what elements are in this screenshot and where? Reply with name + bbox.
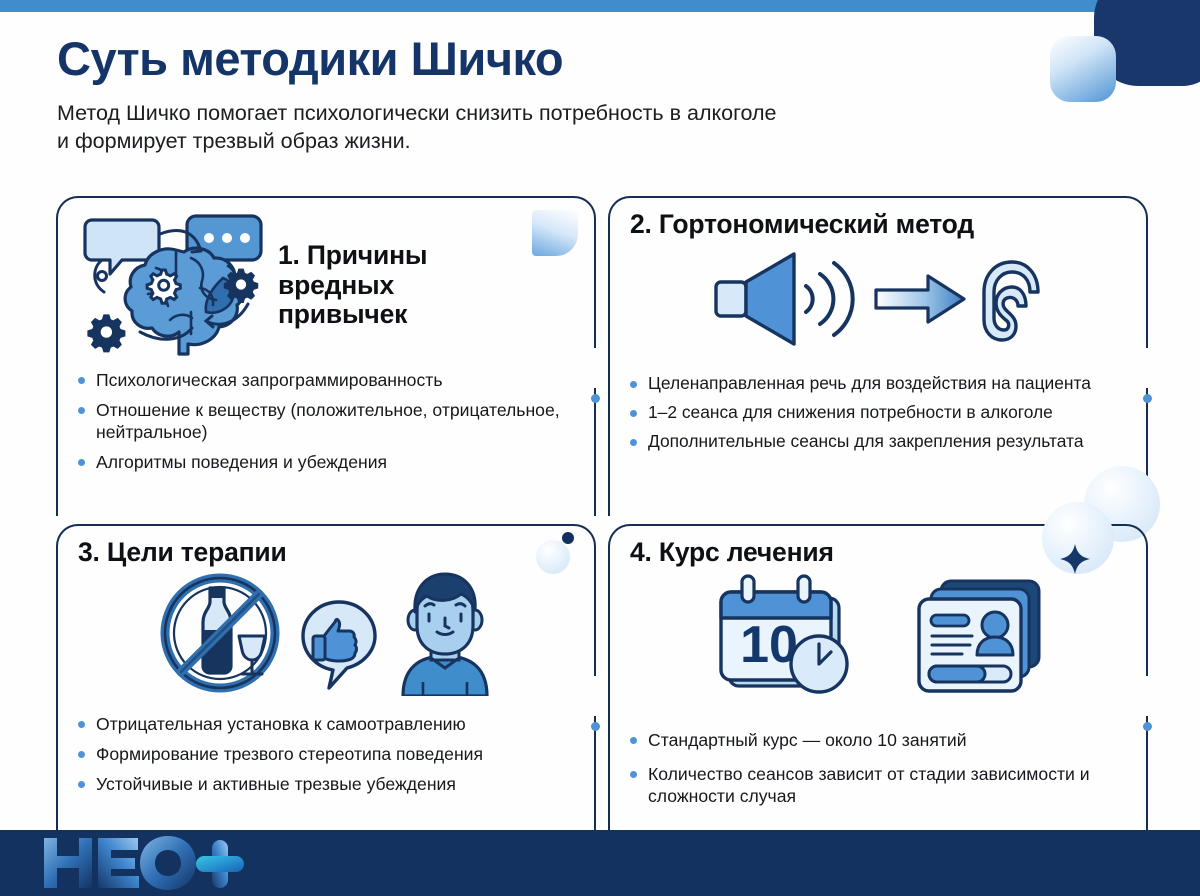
card-title: 1. Причины вредных привычек bbox=[278, 241, 508, 330]
card-bullet-list: Отрицательная установка к самоотравлению… bbox=[78, 713, 574, 795]
cards-grid: 1. Причины вредных привычек Психологичес… bbox=[56, 196, 1148, 836]
footer bbox=[0, 830, 1200, 896]
corner-gradient-square bbox=[1050, 36, 1116, 102]
card-hortonomic-method[interactable]: 2. Гортономический метод bbox=[608, 196, 1148, 516]
card-treatment-course[interactable]: 4. Курс лечения 10 bbox=[608, 524, 1148, 836]
list-item: Отрицательная установка к самоотравлению bbox=[78, 713, 574, 735]
list-item: Стандартный курс — около 10 занятий bbox=[630, 729, 1126, 751]
card-bullet-list: Целенаправленная речь для воздействия на… bbox=[630, 373, 1126, 453]
no-alcohol-icon bbox=[155, 570, 285, 701]
calendar-clock-icon: 10 bbox=[711, 572, 861, 707]
calendar-day-number: 10 bbox=[740, 616, 798, 674]
card-title: 2. Гортономический метод bbox=[630, 210, 1126, 240]
patient-cards-stack-icon bbox=[905, 573, 1045, 706]
list-item: Алгоритмы поведения и убеждения bbox=[78, 451, 574, 473]
page-title: Суть методики Шичко bbox=[57, 34, 817, 84]
list-item: Психологическая запрограммированность bbox=[78, 369, 574, 391]
list-item: Дополнительные сеансы для закрепления ре… bbox=[630, 431, 1126, 453]
list-item: Формирование трезвого стереотипа поведен… bbox=[78, 743, 574, 765]
top-accent-bar bbox=[0, 0, 1200, 12]
speaker-arrow-ear-icon bbox=[708, 246, 1048, 355]
card-therapy-goals[interactable]: 3. Цели терапии bbox=[56, 524, 596, 836]
list-item: Отношение к веществу (положительное, отр… bbox=[78, 399, 574, 443]
list-item: Количество сеансов зависит от стадии зав… bbox=[630, 763, 1126, 807]
card-title: 4. Курс лечения bbox=[630, 538, 1126, 568]
brain-gears-speech-icon bbox=[78, 208, 278, 363]
neo-plus-logo[interactable] bbox=[42, 836, 272, 890]
subtitle-line-1: Метод Шичко помогает психологически сниз… bbox=[57, 99, 817, 128]
card-bullet-list: Психологическая запрограммированность От… bbox=[78, 369, 574, 474]
list-item: Устойчивые и активные трезвые убеждения bbox=[78, 773, 574, 795]
list-item: 1–2 сеанса для снижения потребности в ал… bbox=[630, 402, 1126, 424]
person-avatar-icon bbox=[393, 570, 497, 701]
card-causes-of-bad-habits[interactable]: 1. Причины вредных привычек Психологичес… bbox=[56, 196, 596, 516]
thumbs-up-speech-icon bbox=[299, 600, 379, 701]
card-bullet-list: Стандартный курс — около 10 занятий Коли… bbox=[630, 729, 1126, 807]
card-title: 3. Цели терапии bbox=[78, 538, 574, 568]
page-subtitle: Метод Шичко помогает психологически сниз… bbox=[57, 99, 817, 156]
header: Суть методики Шичко Метод Шичко помогает… bbox=[57, 34, 817, 156]
subtitle-line-2: и формирует трезвый образ жизни. bbox=[57, 127, 817, 156]
list-item: Целенаправленная речь для воздействия на… bbox=[630, 373, 1126, 395]
